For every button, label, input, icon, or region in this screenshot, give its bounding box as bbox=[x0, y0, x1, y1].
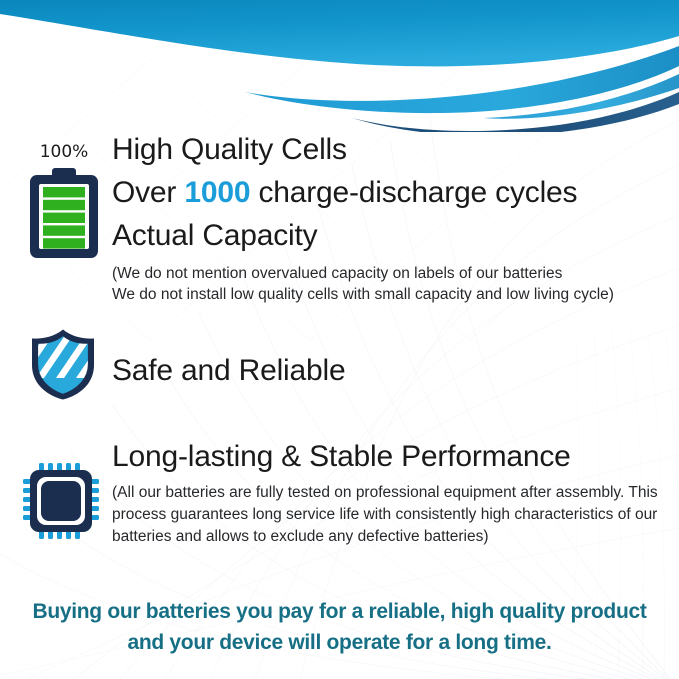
footer-tagline-line-1: Buying our batteries you pay for a relia… bbox=[0, 596, 679, 627]
heading-long-lasting-stable-performance: Long-lasting & Stable Performance bbox=[112, 435, 672, 478]
heading-safe-and-reliable: Safe and Reliable bbox=[112, 349, 345, 392]
battery-percent-label: 100% bbox=[22, 142, 106, 162]
footer-tagline: Buying our batteries you pay for a relia… bbox=[0, 596, 679, 658]
chip-icon bbox=[21, 461, 101, 541]
shield-icon bbox=[28, 328, 98, 400]
feature-long-lasting-text: Long-lasting & Stable Performance (All o… bbox=[112, 435, 672, 548]
note-low-quality-cells: We do not install low quality cells with… bbox=[112, 284, 614, 305]
note-overvalued-capacity: (We do not mention overvalued capacity o… bbox=[112, 263, 614, 284]
promo-banner-page: 100% High Quality Cells Over 1000 charge… bbox=[0, 0, 679, 679]
cycle-count-value: 1000 bbox=[184, 176, 250, 209]
heading-charge-cycles-prefix: Over bbox=[112, 176, 184, 209]
decorative-wave-banner bbox=[0, 0, 679, 132]
footer-tagline-line-2: and your device will operate for a long … bbox=[0, 627, 679, 658]
heading-charge-cycles: Over 1000 charge-discharge cycles bbox=[112, 171, 614, 214]
feature-safe-reliable-text: Safe and Reliable bbox=[112, 349, 345, 392]
heading-charge-cycles-suffix: charge-discharge cycles bbox=[250, 176, 577, 209]
heading-high-quality-cells: High Quality Cells bbox=[112, 128, 614, 171]
feature-high-quality-cells-text: High Quality Cells Over 1000 charge-disc… bbox=[112, 128, 614, 305]
note-tested-on-equipment: (All our batteries are fully tested on p… bbox=[112, 482, 672, 548]
heading-actual-capacity: Actual Capacity bbox=[112, 214, 614, 257]
battery-full-icon: 100% bbox=[22, 142, 106, 260]
